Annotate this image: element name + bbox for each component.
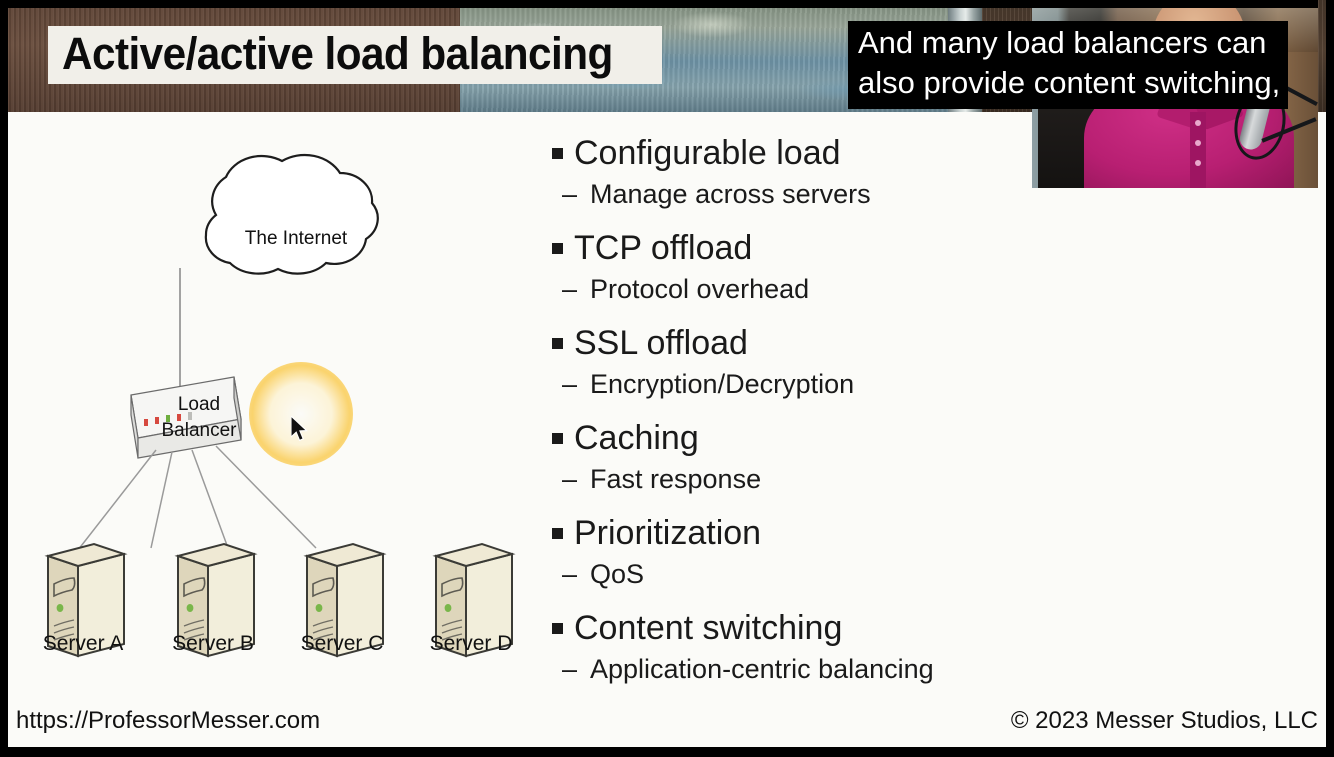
load-balancer-label-line1: Load (144, 392, 254, 418)
internet-cloud-label: The Internet (176, 228, 416, 250)
bullet-sub-3: – Fast response (552, 460, 1312, 498)
server-label-d: Server D (406, 632, 536, 656)
square-bullet-icon (552, 338, 563, 349)
slide-title-plate: Active/active load balancing (48, 26, 662, 84)
dash-bullet-icon: – (562, 460, 580, 498)
bullet-sub-4: – QoS (552, 555, 1312, 593)
bullet-sub-5: – Application-centric balancing (552, 650, 1312, 688)
closed-caption-overlay: And many load balancers can also provide… (848, 21, 1288, 109)
bullet-sub-2: – Encryption/Decryption (552, 365, 1312, 403)
square-bullet-icon (552, 243, 563, 254)
bullet-sub-text-2: Encryption/Decryption (590, 365, 854, 403)
load-balancer-label: Load Balancer (144, 392, 254, 444)
links-lb-to-servers (78, 446, 316, 550)
footer-url[interactable]: https://ProfessorMesser.com (16, 707, 320, 735)
bullet-sub-1: – Protocol overhead (552, 270, 1312, 308)
server-label-c: Server C (277, 632, 407, 656)
frame-bottom-bar (0, 747, 1334, 757)
bullet-group-4: Prioritization – QoS (552, 511, 1312, 593)
load-balancing-diagram: The Internet Load Balancer Server A Serv… (16, 120, 536, 680)
server-label-b: Server B (148, 632, 278, 656)
bullet-sub-text-0: Manage across servers (590, 175, 871, 213)
slide-title: Active/active load balancing (62, 28, 613, 80)
bullet-main-3: Caching (552, 416, 1312, 460)
square-bullet-icon (552, 623, 563, 634)
bullet-main-5: Content switching (552, 606, 1312, 650)
internet-cloud-icon (206, 155, 378, 274)
frame-left-bar (0, 0, 8, 757)
square-bullet-icon (552, 148, 563, 159)
bullet-group-2: SSL offload – Encryption/Decryption (552, 321, 1312, 403)
server-label-a: Server A (18, 632, 148, 656)
video-player-frame: Active/active load balancing (0, 0, 1334, 757)
bullet-main-4: Prioritization (552, 511, 1312, 555)
square-bullet-icon (552, 528, 563, 539)
bullet-main-text-4: Prioritization (574, 511, 761, 555)
dash-bullet-icon: – (562, 365, 580, 403)
bullet-group-3: Caching – Fast response (552, 416, 1312, 498)
bullet-main-text-2: SSL offload (574, 321, 748, 365)
bullet-sub-text-1: Protocol overhead (590, 270, 809, 308)
bullet-sub-text-3: Fast response (590, 460, 761, 498)
caption-line-2: also provide content switching, (858, 63, 1280, 103)
dash-bullet-icon: – (562, 555, 580, 593)
bullet-main-text-5: Content switching (574, 606, 842, 650)
frame-right-bar (1326, 0, 1334, 757)
shirt-button (1195, 160, 1201, 166)
bullet-main-text-1: TCP offload (574, 226, 752, 270)
square-bullet-icon (552, 433, 563, 444)
bullet-main-text-3: Caching (574, 416, 699, 460)
load-balancer-label-line2: Balancer (144, 418, 254, 444)
shirt-button (1195, 140, 1201, 146)
bullet-main-text-0: Configurable load (574, 131, 841, 175)
diagram-svg (16, 120, 536, 680)
bullet-main-1: TCP offload (552, 226, 1312, 270)
bullet-sub-text-5: Application-centric balancing (590, 650, 934, 688)
bullet-sub-text-4: QoS (590, 555, 644, 593)
dash-bullet-icon: – (562, 175, 580, 213)
frame-top-bar (0, 0, 1318, 8)
shirt-button (1195, 120, 1201, 126)
feature-bullet-list: Configurable load – Manage across server… (552, 131, 1312, 701)
bullet-main-2: SSL offload (552, 321, 1312, 365)
footer-copyright: © 2023 Messer Studios, LLC (1011, 707, 1318, 735)
dash-bullet-icon: – (562, 270, 580, 308)
bullet-group-1: TCP offload – Protocol overhead (552, 226, 1312, 308)
bullet-group-5: Content switching – Application-centric … (552, 606, 1312, 688)
dash-bullet-icon: – (562, 650, 580, 688)
caption-line-1: And many load balancers can (858, 23, 1280, 63)
